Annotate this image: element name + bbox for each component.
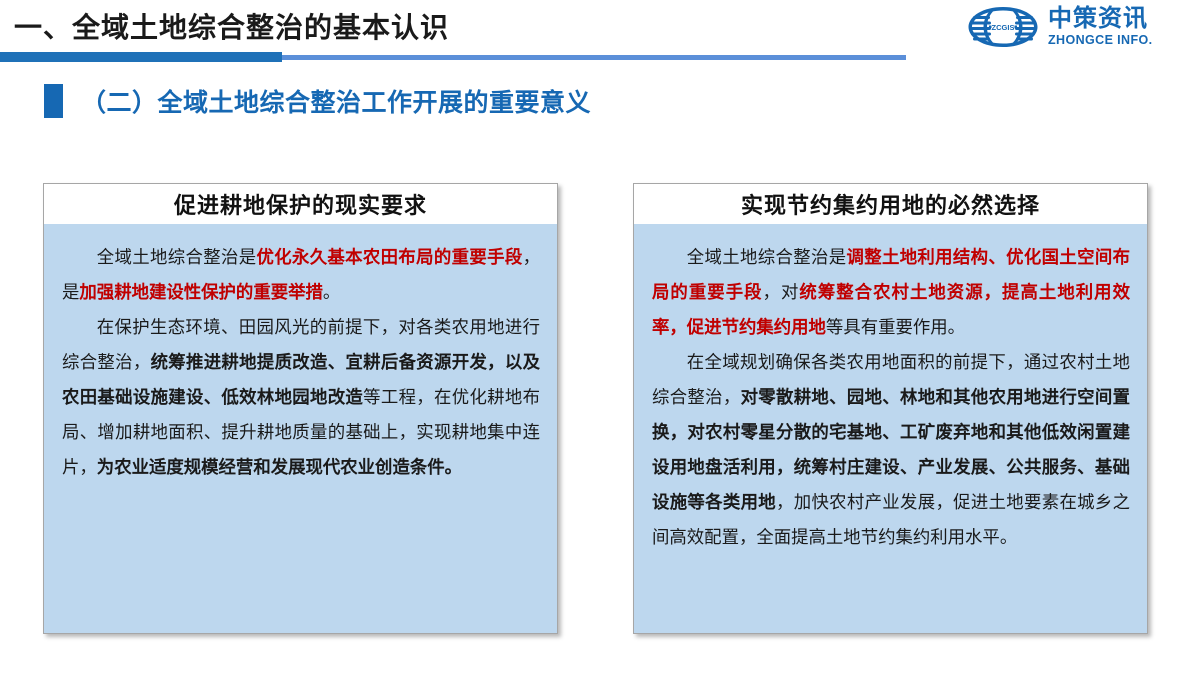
page-title: 一、全域土地综合整治的基本认识 [14,8,449,48]
section-subheading: （二）全域土地综合整治工作开展的重要意义 [44,83,591,119]
card-right-header: 实现节约集约用地的必然选择 [633,183,1148,224]
logo-company-cn: 中策资讯 [1048,7,1153,31]
card-left-paragraph-1: 全域土地综合整治是优化永久基本农田布局的重要手段，是加强耕地建设性保护的重要举措… [62,240,540,310]
zcgis-mark-text: ZCGIS [992,23,1015,32]
card-left-paragraph-2: 在保护生态环境、田园风光的前提下，对各类农用地进行综合整治，统筹推进耕地提质改造… [62,310,540,485]
card-right-body: 全域土地综合整治是调整土地利用结构、优化国土空间布局的重要手段，对统筹整合农村土… [633,224,1148,634]
title-rule-thin [282,55,906,60]
card-left-header: 促进耕地保护的现实要求 [43,183,558,224]
company-logo: ZCGIS 中策资讯 ZHONGCE INFO. [966,4,1186,50]
card-left-body: 全域土地综合整治是优化永久基本农田布局的重要手段，是加强耕地建设性保护的重要举措… [43,224,558,634]
title-rule-thick [0,52,282,62]
card-left-header-title: 促进耕地保护的现实要求 [174,188,427,220]
card-right-paragraph-2: 在全域规划确保各类农用地面积的前提下，通过农村土地综合整治，对零散耕地、园地、林… [652,345,1130,555]
subheading-marker-icon [44,84,63,118]
zcgis-globe-logo-icon: ZCGIS [966,6,1040,48]
logo-wordmark: 中策资讯 ZHONGCE INFO. [1048,7,1153,47]
slide-root: 一、全域土地综合整治的基本认识 [0,0,1200,677]
card-right-header-title: 实现节约集约用地的必然选择 [741,188,1040,220]
content-card-right: 实现节约集约用地的必然选择 全域土地综合整治是调整土地利用结构、优化国土空间布局… [633,183,1148,634]
logo-company-en: ZHONGCE INFO. [1048,34,1153,47]
content-card-left: 促进耕地保护的现实要求 全域土地综合整治是优化永久基本农田布局的重要手段，是加强… [43,183,558,634]
subheading-label: （二）全域土地综合整治工作开展的重要意义 [81,83,591,119]
card-right-paragraph-1: 全域土地综合整治是调整土地利用结构、优化国土空间布局的重要手段，对统筹整合农村土… [652,240,1130,345]
